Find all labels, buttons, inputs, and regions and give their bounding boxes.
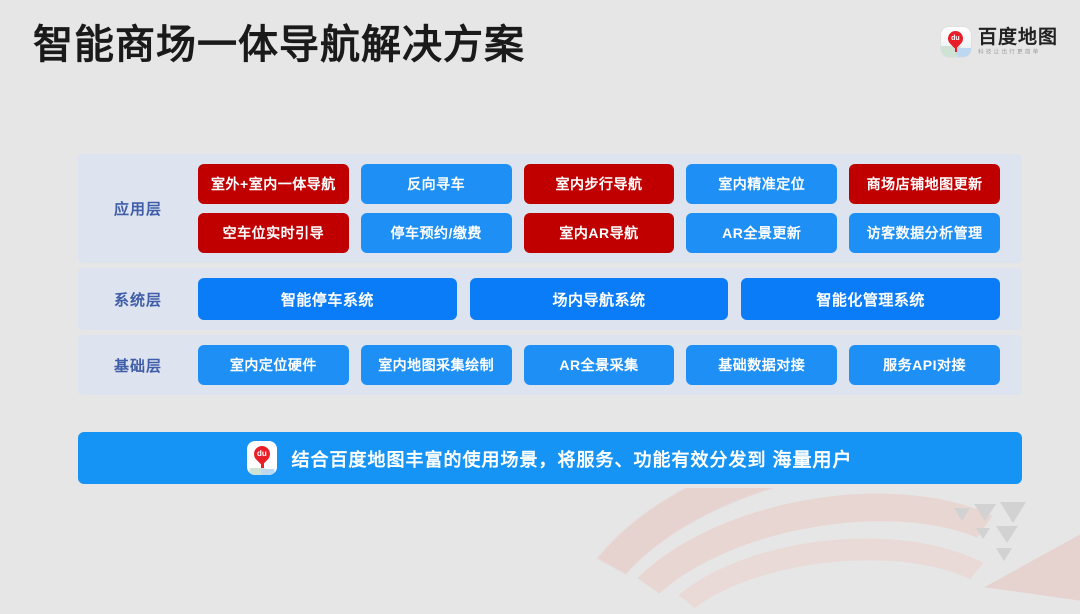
layer-application: 应用层 室外+室内一体导航 反向寻车 室内步行导航 室内精准定位 商场店铺地图更… [78, 154, 1022, 263]
map-pin-icon: du [247, 441, 277, 475]
layer-foundation: 基础层 室内定位硬件 室内地图采集绘制 AR全景采集 基础数据对接 服务API对… [78, 335, 1022, 395]
decorative-swoosh [636, 520, 1038, 614]
brand-tagline: 科技让出行更简单 [978, 50, 1052, 56]
layer-system-row-1: 智能停车系统 场内导航系统 智能化管理系统 [198, 278, 1000, 320]
capability-card[interactable]: 室内AR导航 [524, 213, 675, 253]
foundation-card[interactable]: AR全景采集 [524, 345, 675, 385]
brand-name: 百度地图 [978, 28, 1058, 47]
triangle-icon [996, 548, 1012, 561]
system-card[interactable]: 场内导航系统 [470, 278, 729, 320]
layer-label-foundation: 基础层 [78, 355, 198, 376]
slide-header: 智能商场一体导航解决方案 du 百度地图 科技让出行更简单 [0, 0, 1080, 96]
summary-banner: du 结合百度地图丰富的使用场景，将服务、功能有效分发到 海量用户 [78, 432, 1022, 484]
layer-application-rows: 室外+室内一体导航 反向寻车 室内步行导航 室内精准定位 商场店铺地图更新 空车… [198, 164, 1000, 253]
layer-label-application: 应用层 [78, 198, 198, 219]
triangle-icon [1000, 502, 1026, 523]
decorative-swoosh [582, 488, 1074, 614]
foundation-card[interactable]: 基础数据对接 [686, 345, 837, 385]
system-card[interactable]: 智能停车系统 [198, 278, 457, 320]
capability-card[interactable]: 停车预约/缴费 [361, 213, 512, 253]
architecture-diagram: 应用层 室外+室内一体导航 反向寻车 室内步行导航 室内精准定位 商场店铺地图更… [78, 154, 1022, 400]
capability-card[interactable]: 反向寻车 [361, 164, 512, 204]
foundation-card[interactable]: 室内定位硬件 [198, 345, 349, 385]
decorative-triangle-pattern [954, 502, 1028, 566]
layer-system: 系统层 智能停车系统 场内导航系统 智能化管理系统 [78, 268, 1022, 330]
capability-card[interactable]: 商场店铺地图更新 [849, 164, 1000, 204]
capability-card[interactable]: 室外+室内一体导航 [198, 164, 349, 204]
map-pin-icon: du [941, 27, 971, 57]
decorative-wedge [984, 498, 1080, 604]
triangle-icon [954, 508, 970, 521]
pin-label: du [952, 35, 961, 42]
layer-foundation-row-1: 室内定位硬件 室内地图采集绘制 AR全景采集 基础数据对接 服务API对接 [198, 345, 1000, 385]
layer-foundation-rows: 室内定位硬件 室内地图采集绘制 AR全景采集 基础数据对接 服务API对接 [198, 345, 1000, 385]
pin-label: du [258, 450, 268, 458]
baidu-map-logo: du 百度地图 科技让出行更简单 [941, 27, 1058, 57]
triangle-icon [974, 504, 996, 521]
layer-application-row-1: 室外+室内一体导航 反向寻车 室内步行导航 室内精准定位 商场店铺地图更新 [198, 164, 1000, 204]
triangle-icon [996, 526, 1018, 543]
summary-banner-lead: 结合百度地图丰富的使用场景，将服务、功能有效分发到 [291, 450, 772, 470]
capability-card[interactable]: 室内步行导航 [524, 164, 675, 204]
decorative-footer-artwork [0, 488, 1080, 614]
capability-card[interactable]: 访客数据分析管理 [849, 213, 1000, 253]
decorative-swoosh [531, 488, 1080, 614]
layer-label-system: 系统层 [78, 289, 198, 310]
capability-card[interactable]: AR全景更新 [686, 213, 837, 253]
foundation-card[interactable]: 室内地图采集绘制 [361, 345, 512, 385]
brand-text-block: 百度地图 科技让出行更简单 [978, 28, 1058, 56]
layer-system-rows: 智能停车系统 场内导航系统 智能化管理系统 [198, 278, 1000, 320]
foundation-card[interactable]: 服务API对接 [849, 345, 1000, 385]
capability-card[interactable]: 空车位实时引导 [198, 213, 349, 253]
slide-root: 智能商场一体导航解决方案 du 百度地图 科技让出行更简单 应用层 室外+室内一… [0, 0, 1080, 614]
summary-banner-text: 结合百度地图丰富的使用场景，将服务、功能有效分发到 海量用户 [291, 445, 852, 472]
system-card[interactable]: 智能化管理系统 [741, 278, 1000, 320]
triangle-icon [976, 528, 990, 539]
page-title: 智能商场一体导航解决方案 [33, 19, 525, 71]
summary-banner-highlight: 海量用户 [772, 450, 852, 471]
layer-application-row-2: 空车位实时引导 停车预约/缴费 室内AR导航 AR全景更新 访客数据分析管理 [198, 213, 1000, 253]
capability-card[interactable]: 室内精准定位 [686, 164, 837, 204]
